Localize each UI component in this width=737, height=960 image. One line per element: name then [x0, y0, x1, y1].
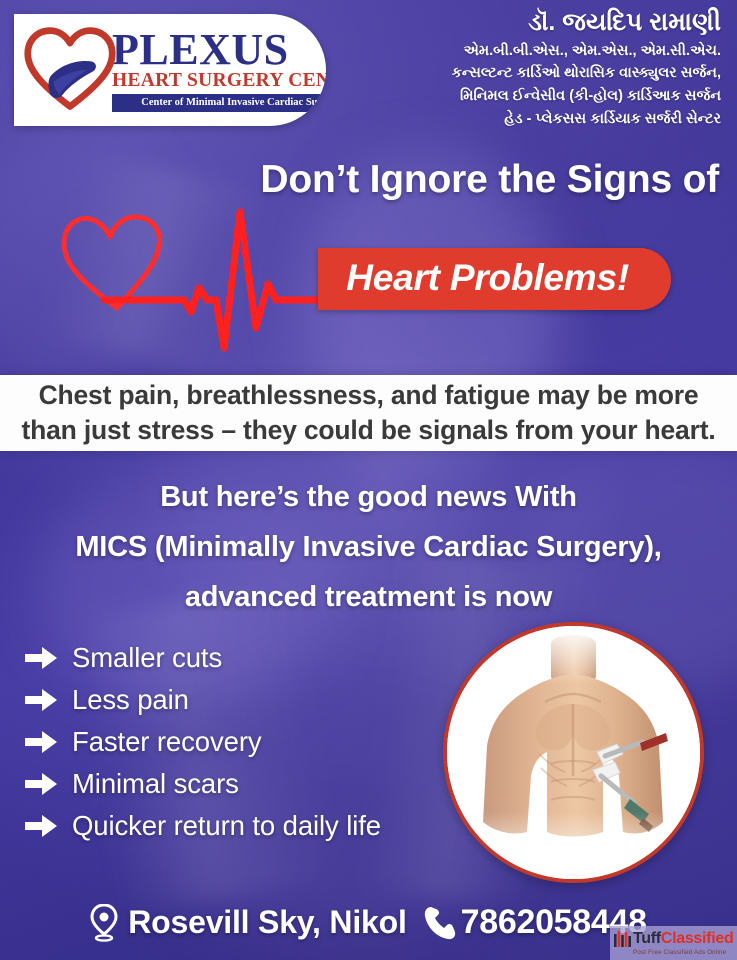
watermark-tagline: Post Free Classified Ads Online [633, 949, 737, 956]
watermark-brand-second: Classified [661, 931, 734, 947]
doctor-credential-line: કન્સલ્ટન્ટ કાર્ડિઓ થોરાસિક વાસ્ક્યુલર સર… [365, 62, 721, 85]
watermark-brand-first: Tuff [633, 931, 661, 947]
benefit-item: Quicker return to daily life [24, 805, 444, 847]
benefit-item: Smaller cuts [24, 637, 444, 679]
heart-hand-logo-icon [22, 22, 118, 118]
telephone-icon [423, 905, 457, 941]
arrow-right-icon [24, 687, 58, 713]
arrow-right-icon [24, 645, 58, 671]
benefit-item: Faster recovery [24, 721, 444, 763]
bar-chart-icon [614, 930, 631, 947]
logo-subtitle: HEART SURGERY CENTER [112, 71, 326, 91]
arrow-right-icon [24, 813, 58, 839]
mics-line: advanced treatment is now [0, 573, 737, 623]
hero-badge: Heart Problems! [318, 248, 671, 310]
benefits-list: Smaller cuts Less pain Faster recovery M… [24, 637, 444, 847]
logo-title: PLEXUS [112, 28, 326, 71]
benefit-label: Less pain [72, 685, 189, 715]
clinic-logo-card: PLEXUS HEART SURGERY CENTER Center of Mi… [14, 14, 326, 126]
doctor-credential-line: હેડ - પ્લેકસસ કાર્ડિયાક સર્જરી સેન્ટર [365, 108, 721, 131]
doctor-credential-line: એમ.બી.બી.એસ., એમ.એસ., એમ.સી.એચ. [365, 40, 721, 63]
hero-headline: Don’t Ignore the Signs of [0, 158, 719, 202]
arrow-right-icon [24, 729, 58, 755]
benefit-item: Minimal scars [24, 763, 444, 805]
mics-line: But here’s the good news With [0, 473, 737, 523]
mics-line: MICS (Minimally Invasive Cardiac Surgery… [0, 523, 737, 573]
logo-tagline: Center of Minimal Invasive Cardiac Surge… [112, 94, 326, 112]
clinic-address: Rosevill Sky, Nikol [128, 904, 406, 941]
logo-text-block: PLEXUS HEART SURGERY CENTER Center of Mi… [112, 28, 326, 112]
doctor-credential-line: મિનિમલ ઈન્વેસીવ (કી-હોલ) કાર્ડિઆક સર્જન [365, 85, 721, 108]
tuffclassified-watermark[interactable]: Tuff Classified Post Free Classified Ads… [610, 926, 737, 960]
symptoms-banner: Chest pain, breathlessness, and fatigue … [0, 375, 737, 451]
symptoms-banner-line: Chest pain, breathlessness, and fatigue … [39, 378, 699, 413]
watermark-brand-row: Tuff Classified [614, 930, 737, 947]
symptoms-banner-line: than just stress – they could be signals… [22, 413, 716, 448]
benefit-label: Minimal scars [72, 769, 239, 799]
arrow-right-icon [24, 771, 58, 797]
benefit-label: Quicker return to daily life [72, 811, 381, 841]
benefit-item: Less pain [24, 679, 444, 721]
benefit-label: Faster recovery [72, 727, 262, 757]
mics-message: But here’s the good news With MICS (Mini… [0, 473, 737, 623]
benefit-label: Smaller cuts [72, 643, 222, 673]
doctor-details: ડૉ. જયદિપ રામાણી એમ.બી.બી.એસ., એમ.એસ., એ… [365, 6, 721, 130]
surgery-illustration [443, 622, 704, 883]
hero-badge-row: Heart Problems! [0, 248, 737, 310]
location-pin-icon [90, 904, 118, 942]
poster-root: PLEXUS HEART SURGERY CENTER Center of Mi… [0, 0, 737, 960]
doctor-name: ડૉ. જયદિપ રામાણી [365, 6, 721, 40]
